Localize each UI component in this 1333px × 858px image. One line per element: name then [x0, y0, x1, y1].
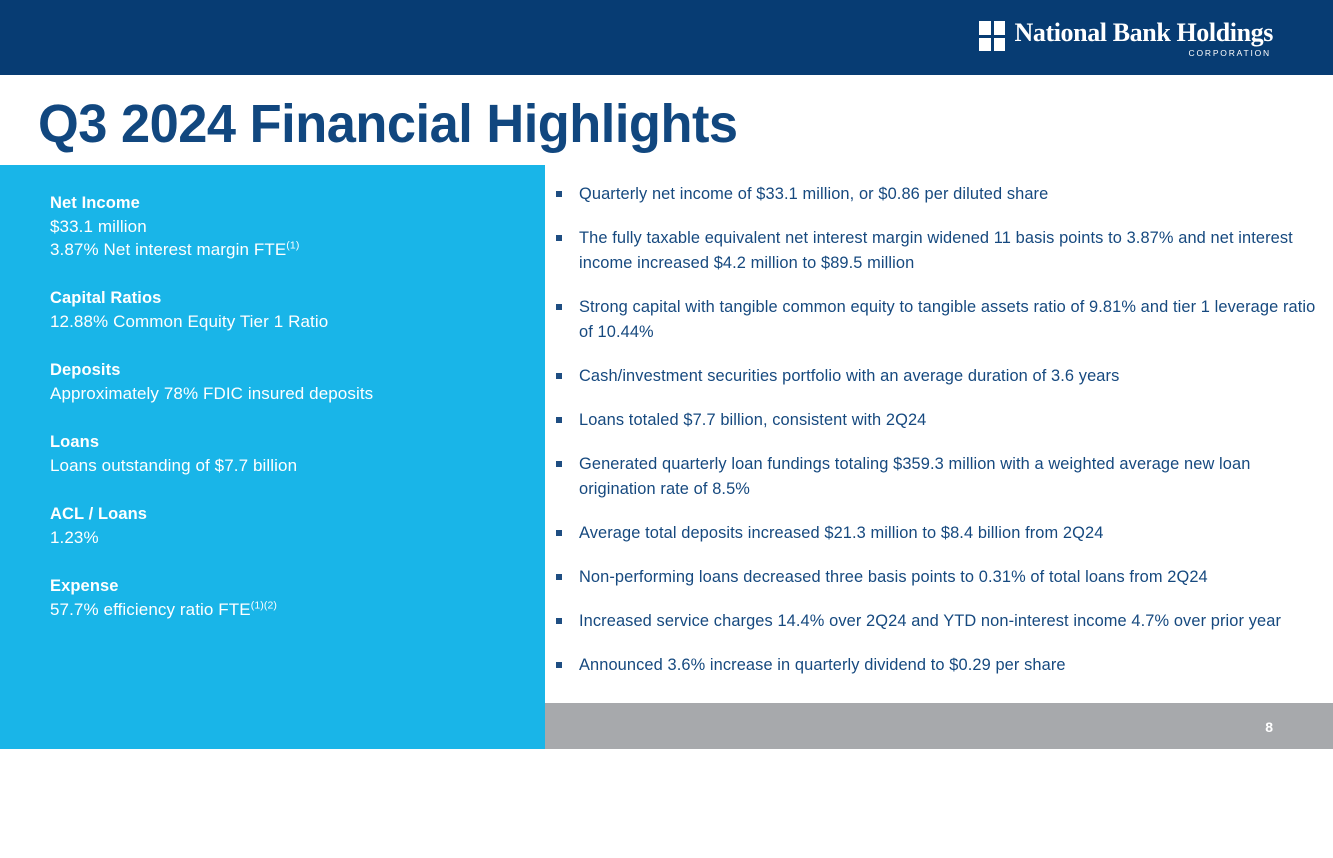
list-item: Strong capital with tangible common equi… — [556, 295, 1328, 345]
square-bullet-icon — [556, 373, 562, 379]
logo-wordmark: National Bank Holdings CORPORATION — [1014, 20, 1273, 59]
highlights-list: Quarterly net income of $33.1 million, o… — [556, 182, 1328, 697]
footnote-marker: (1) — [286, 239, 299, 251]
metric-label: Expense — [50, 574, 501, 598]
list-item-text: Generated quarterly loan fundings totali… — [579, 452, 1328, 502]
square-bullet-icon — [556, 417, 562, 423]
logo-grid-icon — [979, 21, 1005, 51]
metric-block: Capital Ratios12.88% Common Equity Tier … — [50, 286, 501, 333]
metric-label: Capital Ratios — [50, 286, 501, 310]
list-item: Generated quarterly loan fundings totali… — [556, 452, 1328, 502]
metric-block: DepositsApproximately 78% FDIC insured d… — [50, 358, 501, 405]
page-title: Q3 2024 Financial Highlights — [38, 92, 738, 156]
list-item-text: The fully taxable equivalent net interes… — [579, 226, 1328, 276]
square-bullet-icon — [556, 574, 562, 580]
list-item-text: Average total deposits increased $21.3 m… — [579, 521, 1103, 546]
square-bullet-icon — [556, 235, 562, 241]
list-item: Average total deposits increased $21.3 m… — [556, 521, 1328, 546]
company-logo: National Bank Holdings CORPORATION — [979, 20, 1273, 59]
footnote-text: Excluding other intangible asset amortiz… — [58, 847, 240, 857]
list-item-text: Strong capital with tangible common equi… — [579, 295, 1328, 345]
list-item: Increased service charges 14.4% over 2Q2… — [556, 609, 1328, 634]
metric-block: ACL / Loans1.23% — [50, 502, 501, 549]
metric-value: 1.23% — [50, 526, 501, 549]
metric-block: LoansLoans outstanding of $7.7 billion — [50, 430, 501, 477]
logo-brand-subtitle: CORPORATION — [1189, 47, 1271, 59]
square-bullet-icon — [556, 662, 562, 668]
list-item-text: Loans totaled $7.7 billion, consistent w… — [579, 408, 926, 433]
footer-bar: 8 — [545, 703, 1333, 749]
slide: National Bank Holdings CORPORATION Q3 20… — [0, 0, 1333, 749]
list-item-text: Increased service charges 14.4% over 2Q2… — [579, 609, 1281, 634]
metric-value-text: 1.23% — [50, 528, 99, 547]
metric-label: Net Income — [50, 191, 501, 215]
square-bullet-icon — [556, 530, 562, 536]
footnotes-block: (1)Represents a non-GAAP financial measu… — [50, 833, 444, 858]
square-bullet-icon — [556, 191, 562, 197]
metric-label: ACL / Loans — [50, 502, 501, 526]
metric-block: Net Income$33.1 million3.87% Net interes… — [50, 191, 501, 261]
metric-value: Approximately 78% FDIC insured deposits — [50, 382, 501, 405]
metric-value-text: Approximately 78% FDIC insured deposits — [50, 384, 373, 403]
list-item: Quarterly net income of $33.1 million, o… — [556, 182, 1328, 207]
footnote-marker: (2) — [50, 846, 58, 853]
metric-value-text: Loans outstanding of $7.7 billion — [50, 456, 297, 475]
list-item-text: Non-performing loans decreased three bas… — [579, 565, 1208, 590]
list-item: Cash/investment securities portfolio wit… — [556, 364, 1328, 389]
footnote: (1)Represents a non-GAAP financial measu… — [50, 833, 444, 846]
list-item: Non-performing loans decreased three bas… — [556, 565, 1328, 590]
footnote-marker: (1)(2) — [251, 599, 277, 611]
list-item-text: Quarterly net income of $33.1 million, o… — [579, 182, 1048, 207]
footnote-text: Represents a non-GAAP financial measure.… — [58, 834, 444, 844]
metric-value: 3.87% Net interest margin FTE(1) — [50, 238, 501, 261]
list-item-text: Cash/investment securities portfolio wit… — [579, 364, 1119, 389]
header-band: National Bank Holdings CORPORATION — [0, 0, 1333, 75]
metrics-panel: Net Income$33.1 million3.87% Net interes… — [0, 165, 545, 749]
logo-brand-name: National Bank Holdings — [1014, 20, 1273, 46]
metric-value: $33.1 million — [50, 215, 501, 238]
metric-value: Loans outstanding of $7.7 billion — [50, 454, 501, 477]
metric-value-text: 12.88% Common Equity Tier 1 Ratio — [50, 312, 328, 331]
list-item: The fully taxable equivalent net interes… — [556, 226, 1328, 276]
metric-value-text: 57.7% efficiency ratio FTE — [50, 600, 251, 619]
metric-value-text: 3.87% Net interest margin FTE — [50, 240, 286, 259]
list-item-text: Announced 3.6% increase in quarterly div… — [579, 653, 1066, 678]
list-item: Announced 3.6% increase in quarterly div… — [556, 653, 1328, 678]
metric-value-text: $33.1 million — [50, 217, 147, 236]
footnote-marker: (1) — [50, 833, 58, 840]
square-bullet-icon — [556, 461, 562, 467]
square-bullet-icon — [556, 304, 562, 310]
page-number: 8 — [1265, 719, 1273, 735]
square-bullet-icon — [556, 618, 562, 624]
metric-value: 12.88% Common Equity Tier 1 Ratio — [50, 310, 501, 333]
metric-label: Deposits — [50, 358, 501, 382]
list-item: Loans totaled $7.7 billion, consistent w… — [556, 408, 1328, 433]
metrics-list: Net Income$33.1 million3.87% Net interes… — [50, 191, 501, 621]
metric-value: 57.7% efficiency ratio FTE(1)(2) — [50, 598, 501, 621]
footnote: (2)Excluding other intangible asset amor… — [50, 846, 444, 858]
metric-label: Loans — [50, 430, 501, 454]
metric-block: Expense57.7% efficiency ratio FTE(1)(2) — [50, 574, 501, 621]
